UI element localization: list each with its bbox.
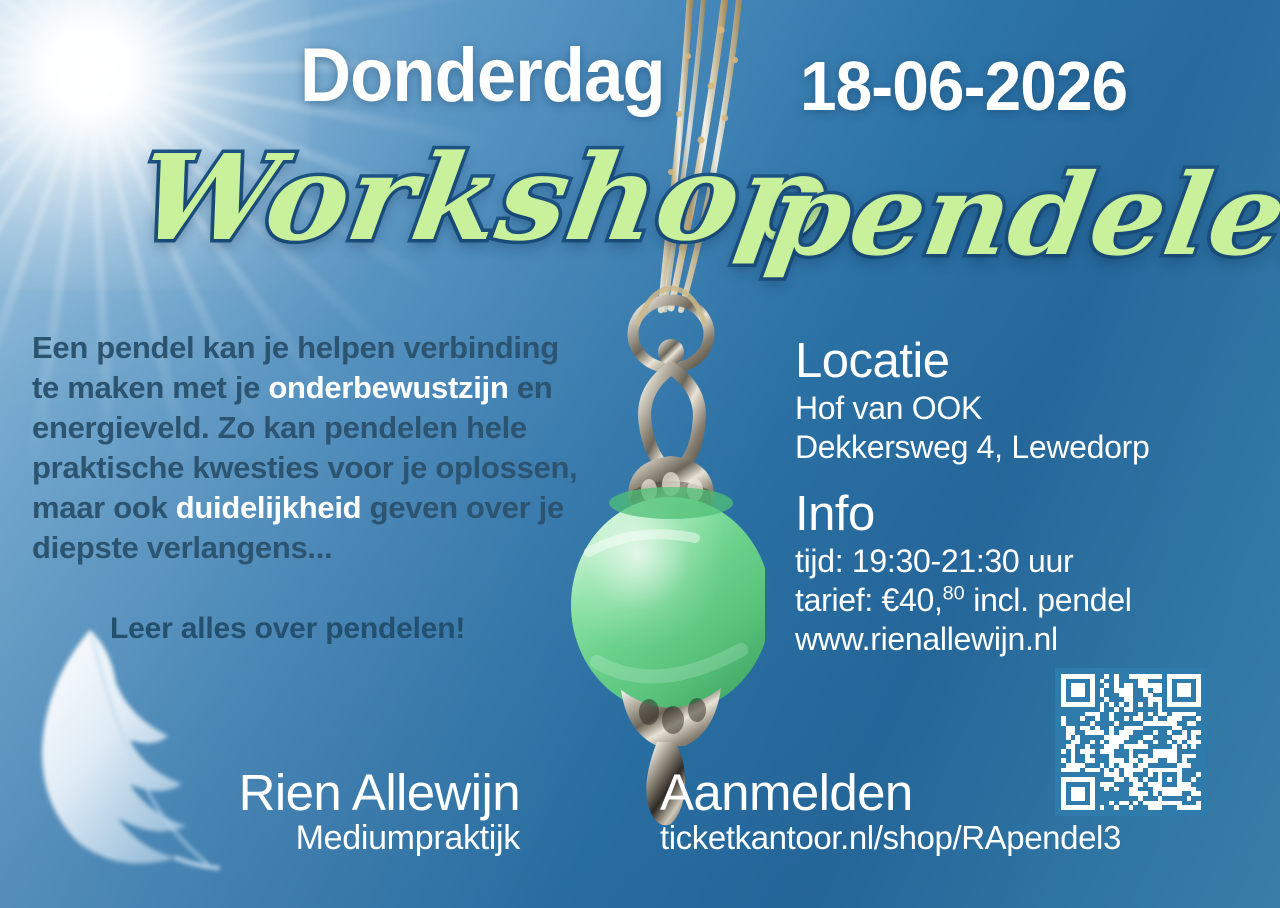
price-prefix: tarief: €40,: [795, 582, 943, 618]
title-word-workshop: Workshop: [129, 128, 836, 267]
location-address: Dekkersweg 4, Lewedorp: [795, 428, 1265, 467]
info-price: tarief: €40,80 incl. pendel: [795, 581, 1265, 620]
tagline: Leer alles over pendelen!: [110, 612, 465, 646]
location-heading: Locatie: [795, 336, 1265, 387]
qr-code[interactable]: [1055, 668, 1207, 816]
qr-code-modules: [1061, 674, 1201, 810]
event-date: 18-06-2026: [800, 46, 1127, 126]
info-website[interactable]: www.rienallewijn.nl: [795, 620, 1265, 659]
location-block: Locatie Hof van OOK Dekkersweg 4, Lewedo…: [795, 336, 1265, 467]
signup-url[interactable]: ticketkantoor.nl/shop/RApendel3: [660, 819, 1121, 858]
signup-block: Aanmelden ticketkantoor.nl/shop/RApendel…: [660, 766, 1121, 858]
info-heading: Info: [795, 489, 1265, 540]
emphasis-word: onderbewustzijn: [268, 370, 508, 405]
flyer-canvas: Donderdag 18-06-2026 Workshop pendelen E…: [0, 0, 1280, 908]
presenter-subtitle: Mediumpraktijk: [120, 819, 520, 858]
weekday-label: Donderdag: [300, 32, 665, 119]
presenter-block: Rien Allewijn Mediumpraktijk: [120, 766, 520, 858]
details-column: Locatie Hof van OOK Dekkersweg 4, Lewedo…: [795, 336, 1265, 680]
info-time: tijd: 19:30-21:30 uur: [795, 542, 1265, 581]
emphasis-word: duidelijkheid: [176, 490, 362, 525]
description-paragraph: Een pendel kan je helpen verbinding te m…: [32, 328, 592, 568]
price-cents: 80: [943, 582, 965, 604]
title-word-pendelen: pendelen: [760, 150, 1280, 281]
location-venue: Hof van OOK: [795, 389, 1265, 428]
info-block: Info tijd: 19:30-21:30 uur tarief: €40,8…: [795, 489, 1265, 659]
signup-heading: Aanmelden: [660, 766, 1121, 819]
price-suffix: incl. pendel: [965, 582, 1132, 618]
header-row: Donderdag 18-06-2026: [0, 16, 1280, 116]
presenter-name: Rien Allewijn: [120, 766, 520, 819]
